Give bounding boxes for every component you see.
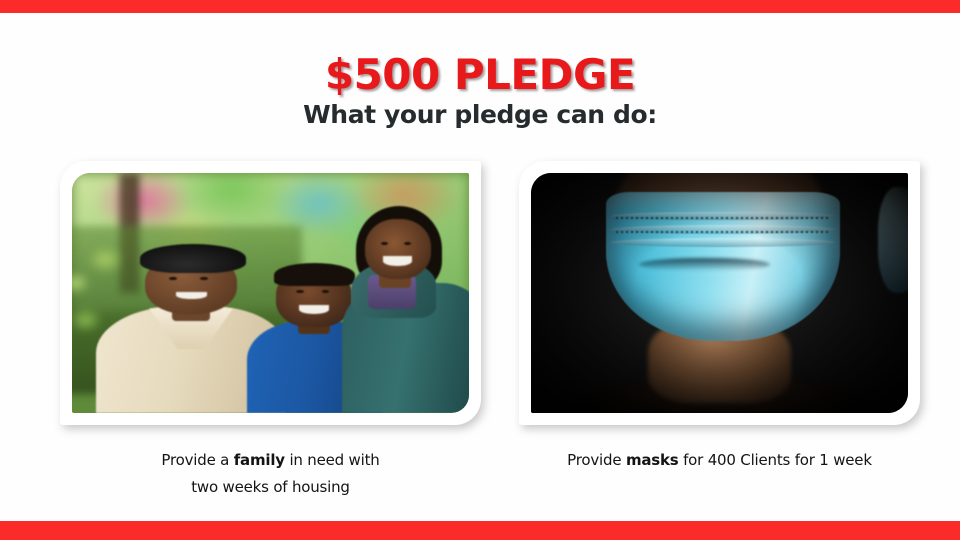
girl-smile bbox=[383, 256, 412, 266]
page-title: $500 PLEDGE bbox=[0, 52, 960, 98]
family-photo bbox=[72, 173, 469, 413]
mother-smile bbox=[176, 292, 207, 299]
caption-family-pre: Provide a bbox=[161, 451, 233, 469]
girl-eye-left bbox=[381, 242, 388, 246]
caption-family-line2: two weeks of housing bbox=[191, 478, 350, 496]
photo-frame-mask bbox=[519, 161, 920, 425]
boy-smile bbox=[299, 305, 329, 314]
mother-eye-left bbox=[169, 277, 177, 280]
top-red-band bbox=[0, 0, 960, 13]
pledge-slide: $500 PLEDGE What your pledge can do: bbox=[0, 0, 960, 540]
person-girl bbox=[342, 197, 469, 413]
boy-eye-left bbox=[296, 290, 304, 293]
girl-eye-right bbox=[404, 242, 411, 246]
title-block: $500 PLEDGE What your pledge can do: bbox=[0, 52, 960, 130]
mother-beret bbox=[140, 244, 247, 272]
caption-mask-post: for 400 Clients for 1 week bbox=[679, 451, 872, 469]
girl-head bbox=[365, 219, 431, 279]
caption-mask: Provide masks for 400 Clients for 1 week bbox=[519, 447, 920, 474]
mother-eye-right bbox=[200, 277, 208, 280]
caption-family-keyword: family bbox=[234, 451, 285, 469]
caption-mask-pre: Provide bbox=[567, 451, 626, 469]
photo-vignette bbox=[531, 173, 908, 413]
boy-eye-right bbox=[322, 290, 330, 293]
caption-family: Provide a family in need with two weeks … bbox=[60, 447, 481, 501]
photo-frame-family bbox=[60, 161, 481, 425]
caption-family-post: in need with bbox=[285, 451, 380, 469]
caption-mask-keyword: masks bbox=[626, 451, 679, 469]
page-subtitle: What your pledge can do: bbox=[0, 100, 960, 130]
bottom-red-band bbox=[0, 521, 960, 540]
surgical-mask-photo bbox=[531, 173, 908, 413]
